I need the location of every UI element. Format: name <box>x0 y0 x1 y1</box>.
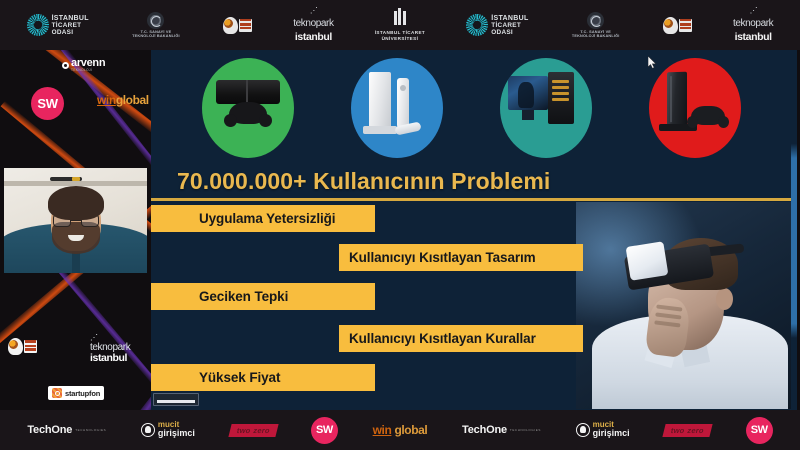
logo-girisim-evi <box>223 17 252 34</box>
speaker-webcam-tile[interactable] <box>4 168 147 273</box>
pc-monitor-stand-icon <box>522 110 534 120</box>
girisim-head-icon <box>8 338 23 355</box>
logo-mucit-girisimci: mucit girişimci <box>141 421 195 438</box>
techone-name: TechOne <box>27 424 72 436</box>
ito-rosette-icon <box>466 14 488 36</box>
twozero-part1: two <box>670 426 686 435</box>
platform-playstation-4 <box>649 58 741 158</box>
ito-line3: ODASI <box>491 29 528 36</box>
logo-girisim-evi-2 <box>663 17 692 34</box>
logo-arvenn: arvenn TEKNOLOJİ <box>62 58 105 72</box>
bullet-item-2: Kullanıcıyı Kısıtlayan Tasarım <box>339 244 583 271</box>
wii-console-icon <box>369 72 391 128</box>
bullet-item-4: Kullanıcıyı Kısıtlayan Kurallar <box>339 325 583 352</box>
teknopark-line2: istanbul <box>735 32 772 43</box>
teknopark-line2: istanbul <box>90 353 130 364</box>
arvenn-tagline: TEKNOLOJİ <box>71 69 105 72</box>
ps4-console-icon <box>667 72 687 127</box>
logo-winglobal: winglobal <box>97 93 149 107</box>
video-progress-bar[interactable] <box>153 393 199 406</box>
logo-techone-2: TechOne TECHNOLOGIES <box>462 424 541 436</box>
teknopark-line2: istanbul <box>295 32 332 43</box>
logo-twozero-2: twozero <box>663 424 713 437</box>
logo-teknopark-2: ⋰ teknopark istanbul <box>733 7 773 43</box>
logo-girisim-evi-side <box>8 338 37 355</box>
pc-tower-icon <box>548 72 574 124</box>
top-sponsor-banner: İSTANBUL TİCARET ODASI T.C. SANAYİ VE TE… <box>0 0 800 50</box>
logo-sw-badge-bottom: SW <box>311 417 338 444</box>
xbox-console-icon <box>216 80 280 104</box>
winglobal-part1: win <box>373 423 392 437</box>
logo-sanayi-bakanligi-2: T.C. SANAYİ VE TEKNOLOJİ BAKANLIĞI <box>570 12 622 38</box>
girisim-box-icon <box>239 19 252 32</box>
girisim-box-icon <box>679 19 692 32</box>
slide-title: 70.000.000+ Kullanıcının Problemi <box>177 168 550 195</box>
techone-tagline: TECHNOLOGIES <box>510 428 541 432</box>
teknopark-line1: teknopark <box>293 19 333 29</box>
startupfon-mark-icon <box>52 388 62 398</box>
platform-icon-row <box>151 54 791 162</box>
ps4-controller-icon <box>691 106 725 125</box>
arvenn-dot-icon <box>62 62 69 69</box>
logo-twozero: twozero <box>228 424 278 437</box>
mucit-line2: girişimci <box>158 429 195 438</box>
logo-ito-2: İSTANBUL TİCARET ODASI <box>466 14 528 36</box>
twozero-part2: zero <box>687 426 705 435</box>
startupfon-label: startupfon <box>65 389 100 398</box>
sw-label: SW <box>316 424 333 436</box>
bakanlik-label: T.C. SANAYİ VE TEKNOLOJİ BAKANLIĞI <box>130 30 182 38</box>
logo-ito: İSTANBUL TİCARET ODASI <box>27 14 89 36</box>
itu-line2: ÜNİVERSİTESİ <box>382 36 419 41</box>
winglobal-part1: win <box>97 93 116 107</box>
sw-label: SW <box>751 424 768 436</box>
bullet-item-3: Geciken Tepki <box>151 283 375 310</box>
speaker-hair <box>48 186 104 220</box>
ito-rosette-icon <box>27 14 49 36</box>
bullet-item-5: Yüksek Fiyat <box>151 364 375 391</box>
logo-winglobal-bottom: winglobal <box>373 423 428 437</box>
ito-line2: TİCARET <box>52 22 89 29</box>
pc-monitor-icon <box>508 76 548 110</box>
wii-stand-icon <box>363 126 397 134</box>
logo-teknopark-side: ⋰ teknopark istanbul <box>90 334 130 364</box>
teknopark-dots-icon: ⋰ <box>310 7 317 15</box>
twozero-part1: two <box>235 426 251 435</box>
sw-label: SW <box>37 96 57 111</box>
girisim-head-icon <box>663 17 678 34</box>
title-underline-rule <box>151 198 791 201</box>
bakanlik-seal-icon <box>147 12 164 29</box>
mouse-pointer <box>648 56 657 69</box>
bullet-item-1: Uygulama Yetersizliği <box>151 205 375 232</box>
mucit-bulb-icon <box>141 423 155 437</box>
itu-bars-icon <box>394 8 406 25</box>
girisim-head-icon <box>223 17 238 34</box>
logo-mucit-girisimci-2: mucit girişimci <box>576 421 630 438</box>
ito-line1: İSTANBUL <box>491 15 528 22</box>
ito-line1: İSTANBUL <box>52 15 89 22</box>
problem-bullet-list: Uygulama Yetersizliği Kullanıcıyı Kısıtl… <box>151 202 583 410</box>
logo-techone: TechOne TECHNOLOGIES <box>27 424 106 436</box>
vr-headset-user-photo <box>576 202 791 409</box>
bakanlik-seal-icon <box>587 12 604 29</box>
vr-person-ear <box>716 288 733 310</box>
platform-xbox-one <box>202 58 294 158</box>
speaker-mouth <box>68 235 84 241</box>
xbox-controller-icon <box>229 102 267 124</box>
logo-sw-badge-bottom-2: SW <box>746 417 773 444</box>
stream-stage: İSTANBUL TİCARET ODASI T.C. SANAYİ VE TE… <box>0 0 800 450</box>
logo-itu: İSTANBUL TİCARET ÜNİVERSİTESİ <box>375 8 425 41</box>
ito-line3: ODASI <box>52 29 89 36</box>
logo-sanayi-bakanligi: T.C. SANAYİ VE TEKNOLOJİ BAKANLIĞI <box>130 12 182 38</box>
logo-sw-badge: SW <box>31 87 64 120</box>
teknopark-line1: teknopark <box>733 19 773 29</box>
vr-headset-lens-icon <box>626 241 669 281</box>
techone-name: TechOne <box>462 424 507 436</box>
ito-line2: TİCARET <box>491 22 528 29</box>
wii-remote-icon <box>397 78 409 128</box>
slide-right-edge <box>791 50 797 410</box>
mucit-bulb-icon <box>576 423 590 437</box>
techone-tagline: TECHNOLOGIES <box>75 428 106 432</box>
logo-startupfon: startupfon <box>48 386 104 400</box>
presentation-slide[interactable]: 70.000.000+ Kullanıcının Problemi Uygula… <box>151 50 797 410</box>
itu-line1: İSTANBUL TİCARET <box>375 30 425 35</box>
platform-gaming-pc <box>500 58 592 158</box>
mucit-line2: girişimci <box>593 429 630 438</box>
winglobal-part2: global <box>116 93 149 107</box>
platform-nintendo-wii <box>351 58 443 158</box>
webcam-pen <box>50 177 82 181</box>
teknopark-dots-icon: ⋰ <box>750 7 757 15</box>
twozero-part2: zero <box>252 426 270 435</box>
teknopark-dots-icon: ⋰ <box>90 334 130 342</box>
girisim-box-icon <box>24 340 37 353</box>
bakanlik-label: T.C. SANAYİ VE TEKNOLOJİ BAKANLIĞI <box>570 30 622 38</box>
bottom-sponsor-banner: TechOne TECHNOLOGIES mucit girişimci two… <box>0 410 800 450</box>
logo-teknopark: ⋰ teknopark istanbul <box>293 7 333 43</box>
winglobal-part2: global <box>394 423 427 437</box>
